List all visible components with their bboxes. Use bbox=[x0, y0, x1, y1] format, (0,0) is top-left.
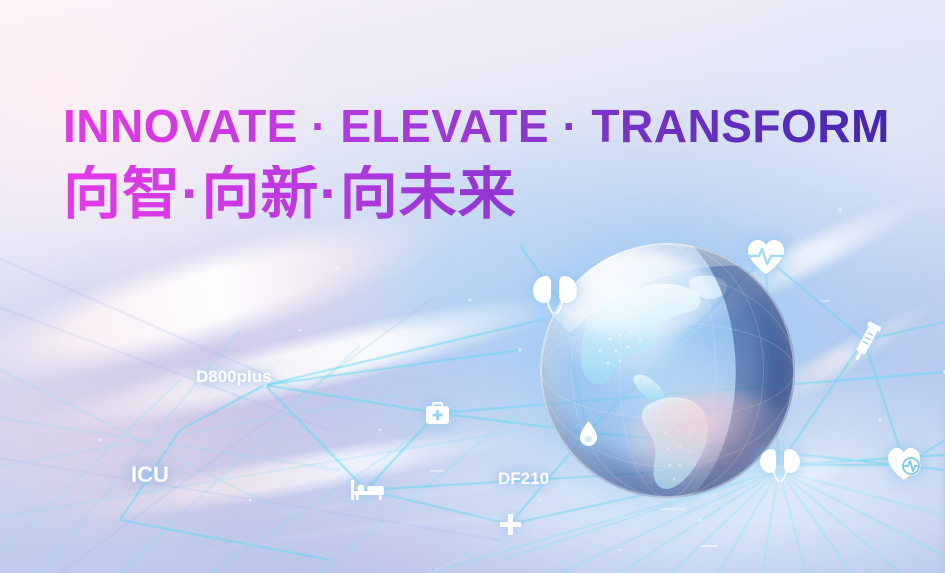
headline-block: INNOVATE · ELEVATE · TRANSFORM 向智·向新·向未来 bbox=[63, 103, 890, 223]
water-drop-icon bbox=[578, 420, 599, 447]
heart-pulse-icon bbox=[746, 238, 786, 276]
label-df210: DF210 bbox=[498, 469, 549, 489]
hero-banner: D800plus ICU DF210 INNOVATE · ELEVATE · … bbox=[0, 0, 945, 573]
medical-cross-icon bbox=[500, 514, 521, 535]
headline-english: INNOVATE · ELEVATE · TRANSFORM bbox=[63, 103, 890, 149]
kidneys-icon bbox=[530, 272, 580, 318]
syringe-icon bbox=[848, 320, 884, 364]
hospital-bed-icon bbox=[351, 478, 385, 501]
label-icu: ICU bbox=[131, 462, 169, 488]
medical-bag-icon bbox=[424, 400, 451, 426]
label-d800plus: D800plus bbox=[196, 367, 272, 387]
kidneys-bottom-icon bbox=[758, 446, 802, 484]
heart-ecg-icon bbox=[886, 446, 924, 482]
headline-chinese: 向智·向新·向未来 bbox=[63, 165, 890, 223]
